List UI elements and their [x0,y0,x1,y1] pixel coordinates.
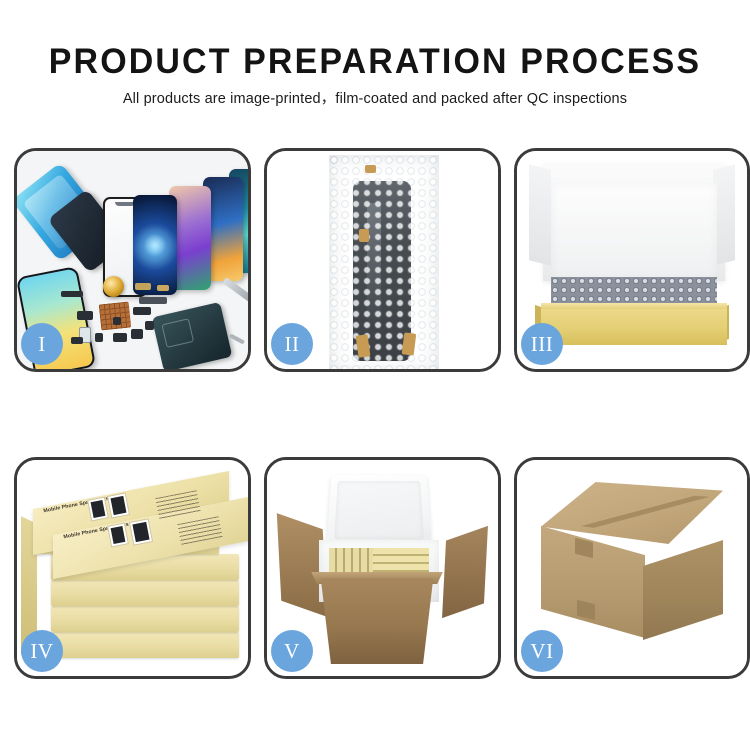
box-product-photo-icon [107,492,130,518]
component-icon [95,333,103,342]
step-number-badge-6: VI [521,630,563,672]
box-front-panel-icon [541,309,727,345]
step-number-badge-1: I [21,323,63,365]
box-lid-flap-left-icon [529,164,551,265]
tape-piece-icon [359,229,369,242]
component-icon [77,311,93,320]
component-icon [71,337,83,344]
box-product-photo-icon [107,522,129,547]
component-icon [135,283,151,290]
foam-lid-icon [326,475,431,547]
component-icon [113,333,127,342]
process-step-panel-2: II [264,148,501,372]
retail-box-icon [51,606,239,632]
phone-screen-dark-icon [133,195,177,295]
process-step-panel-5: V [264,457,501,679]
process-step-panel-6: VI [514,457,750,679]
circuit-board-icon [99,302,132,331]
carton-right-face-icon [643,540,723,640]
component-icon [157,285,169,291]
step-number-badge-3: III [521,323,563,365]
screwdriver-icon [222,277,248,304]
retail-box-icon [51,580,239,606]
tape-piece-icon [365,165,376,173]
phone-backplate-icon [152,302,233,369]
bubble-texture-icon [329,155,439,369]
component-icon [61,291,83,297]
tweezers-icon [229,333,245,344]
component-icon [113,317,121,325]
process-step-panel-3: III [514,148,750,372]
process-step-grid: I II [0,0,750,750]
component-icon [145,321,154,330]
foam-sheet-icon [551,183,717,279]
step-number-badge-2: II [271,323,313,365]
carton-body-icon [313,578,441,664]
component-icon [139,297,167,304]
process-step-panel-4: Mobile Phone Spare Parts Mobile Phone Sp… [14,457,251,679]
box-product-photo-icon [87,496,109,521]
carton-flap-right-icon [442,526,488,618]
retail-box-icon [51,632,239,658]
box-stack-icon: Mobile Phone Spare Parts Mobile Phone Sp… [31,480,239,670]
component-icon [133,307,151,315]
step-number-badge-4: IV [21,630,63,672]
component-icon [131,329,143,339]
coil-component-icon [103,276,124,297]
step-number-badge-5: V [271,630,313,672]
process-step-panel-1: I [14,148,251,372]
carton-left-face-icon [541,526,645,638]
box-product-photo-icon [129,518,153,545]
bubble-bag-icon [329,155,439,369]
